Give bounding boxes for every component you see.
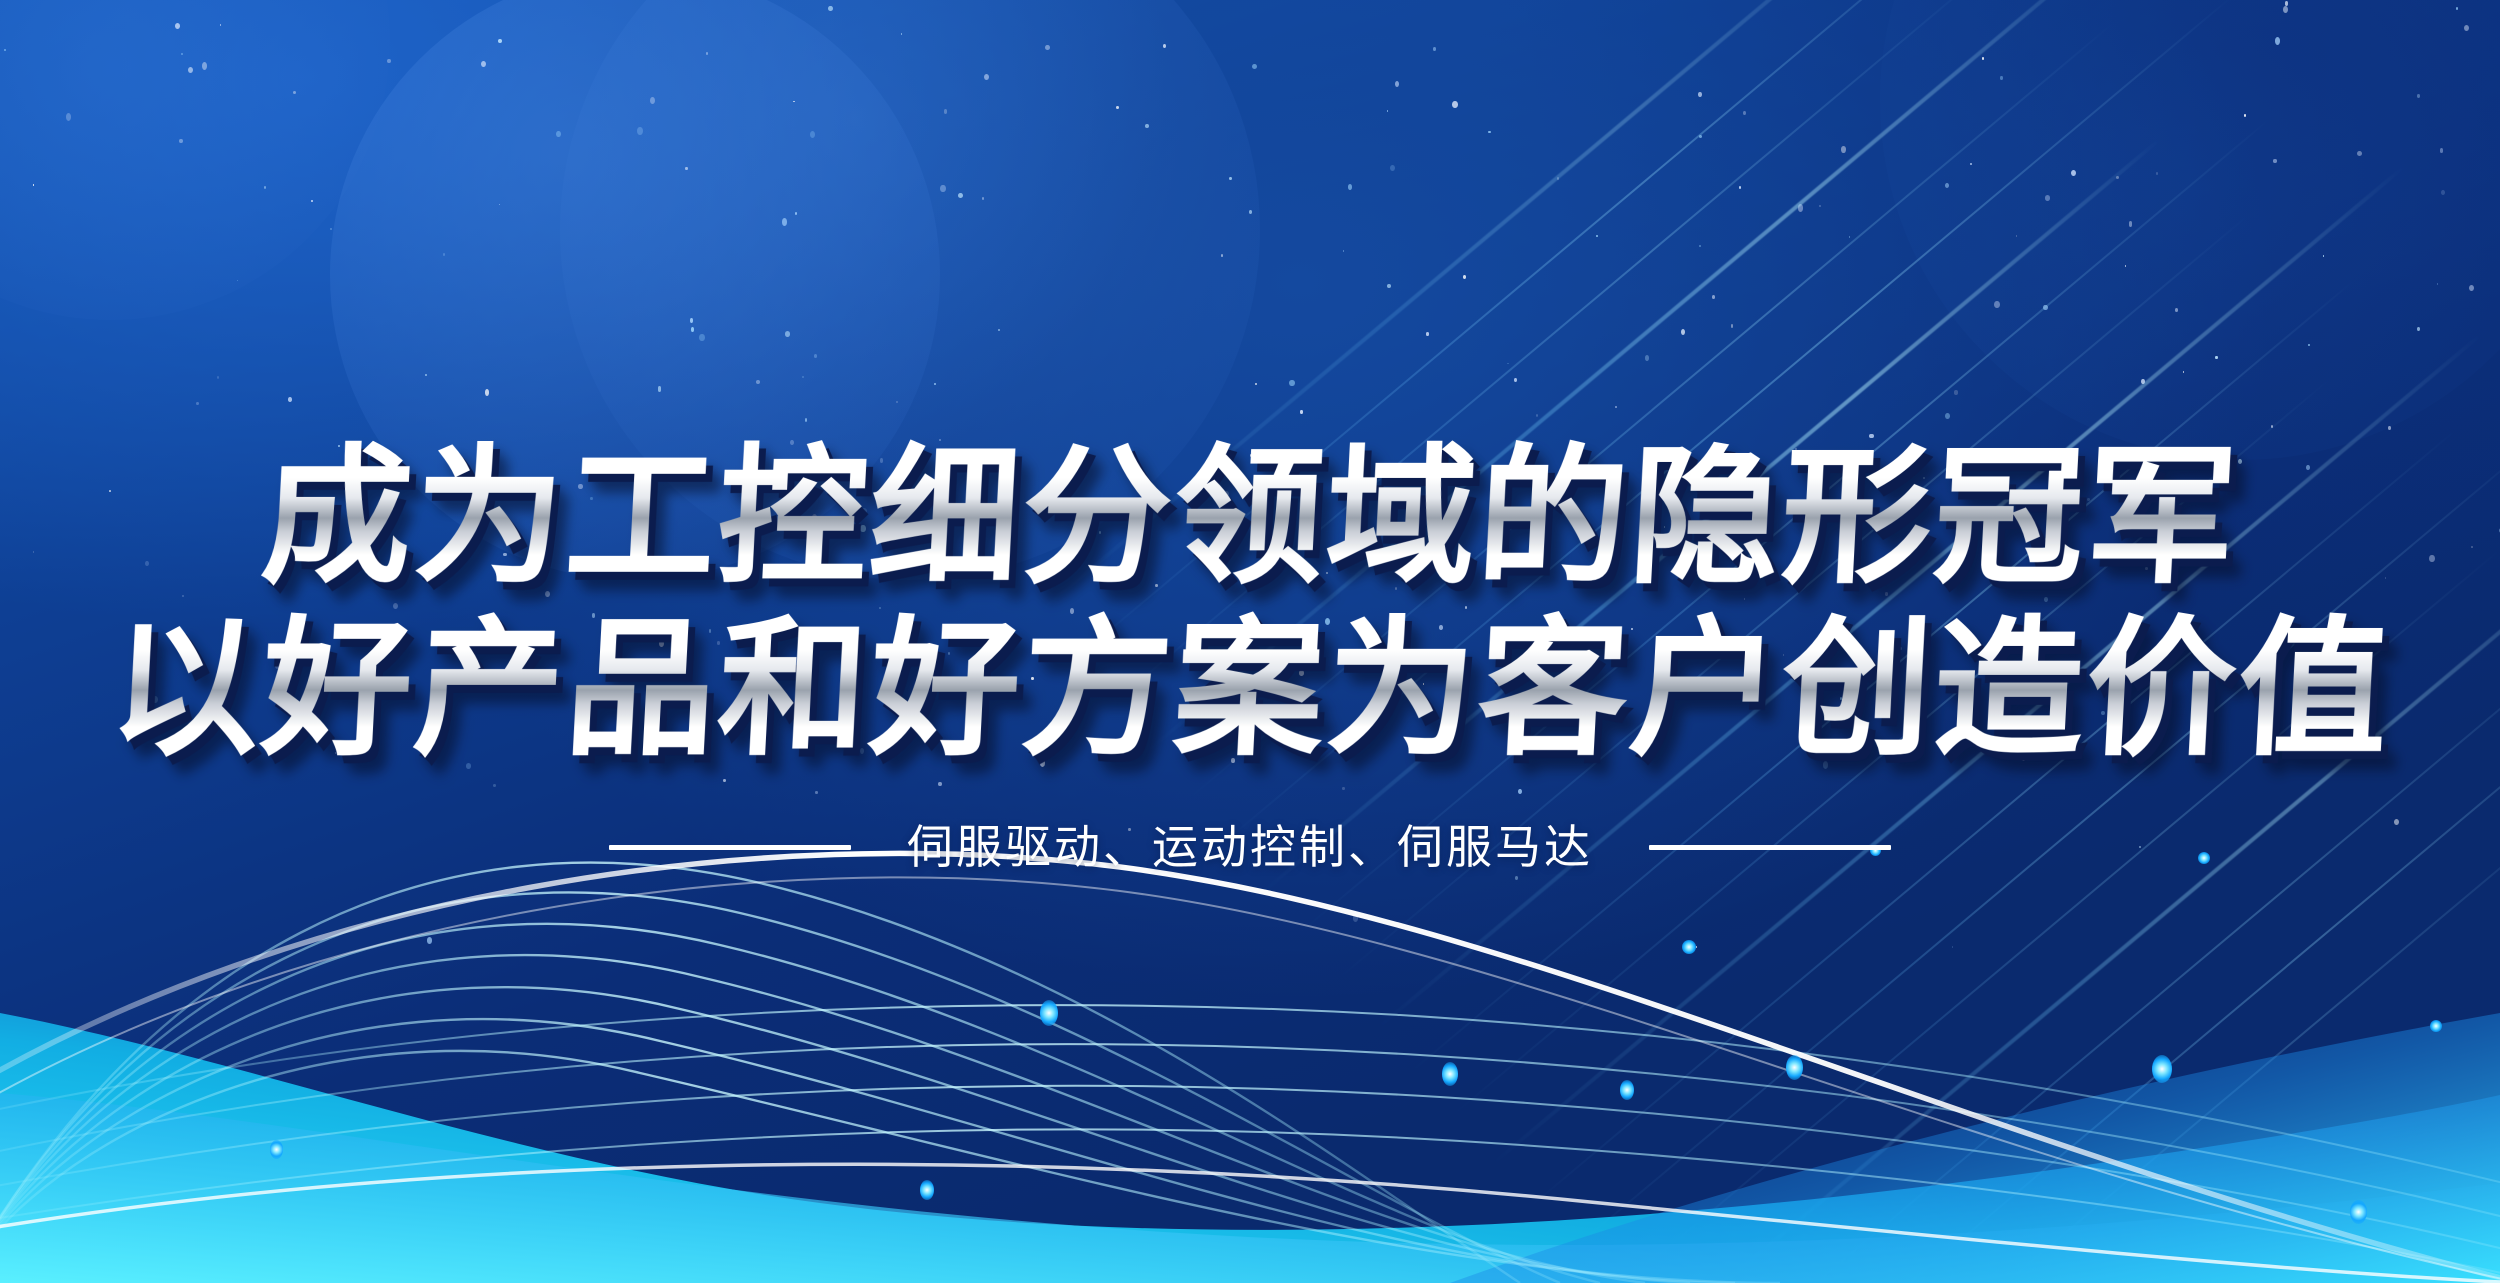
glow-particle [2430,1020,2442,1032]
decorative-circle-top-right [1880,0,2500,460]
subtitle-text: 伺服驱动、运动控制、伺服马达 [907,818,1593,876]
glow-particle [1040,1000,1058,1026]
glow-particle [1682,940,1696,954]
glow-particle [1442,1062,1458,1086]
glow-particle [920,1180,934,1200]
glow-particle [270,1140,283,1159]
headline-line-2: 以好产品和好方案为客户创造价值 [0,606,2500,774]
rule-left [609,845,851,850]
promo-banner: 成为工控细分领域的隐形冠军 以好产品和好方案为客户创造价值 伺服驱动、运动控制、… [0,0,2500,1283]
glow-particle [2152,1055,2172,1083]
rule-right [1649,845,1891,850]
headline-line-1: 成为工控细分领域的隐形冠军 [0,434,2500,602]
glow-particle [1786,1055,1803,1080]
decorative-circle-top-left [0,0,390,320]
glow-particle [2350,1200,2367,1224]
glow-particle [1620,1080,1634,1100]
subtitle-row: 伺服驱动、运动控制、伺服马达 [0,818,2500,876]
